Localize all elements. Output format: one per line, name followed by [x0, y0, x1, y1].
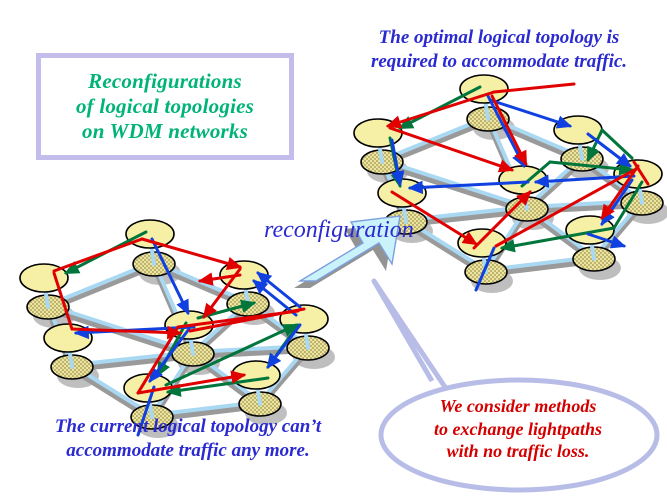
- caption-current-topology: The current logical topology can’t accom…: [14, 415, 362, 464]
- title-line-2: of logical topologies: [76, 94, 254, 119]
- diagram-current-logical-topology: [20, 220, 335, 438]
- reconfiguration-label: reconfiguration: [264, 217, 414, 244]
- title-line-1: Reconfigurations: [88, 69, 242, 94]
- caption-optimal-line-1: The optimal logical topology is: [334, 26, 664, 50]
- caption-optimal-line-2: required to accommodate traffic.: [334, 50, 664, 74]
- slide-canvas: Reconfigurations of logical topologies o…: [0, 0, 667, 501]
- bubble-line-3: with no traffic loss.: [398, 440, 638, 463]
- caption-current-line-1: The current logical topology can’t: [14, 415, 362, 439]
- speech-bubble-text: We consider methods to exchange lightpat…: [398, 395, 638, 463]
- bubble-line-1: We consider methods: [398, 395, 638, 418]
- title-box: Reconfigurations of logical topologies o…: [36, 53, 294, 160]
- caption-current-line-2: accommodate traffic any more.: [14, 439, 362, 463]
- diagram-optimal-logical-topology: [354, 75, 667, 293]
- title-line-3: on WDM networks: [82, 119, 248, 144]
- bubble-line-2: to exchange lightpaths: [398, 418, 638, 441]
- caption-optimal-topology: The optimal logical topology is required…: [334, 26, 664, 75]
